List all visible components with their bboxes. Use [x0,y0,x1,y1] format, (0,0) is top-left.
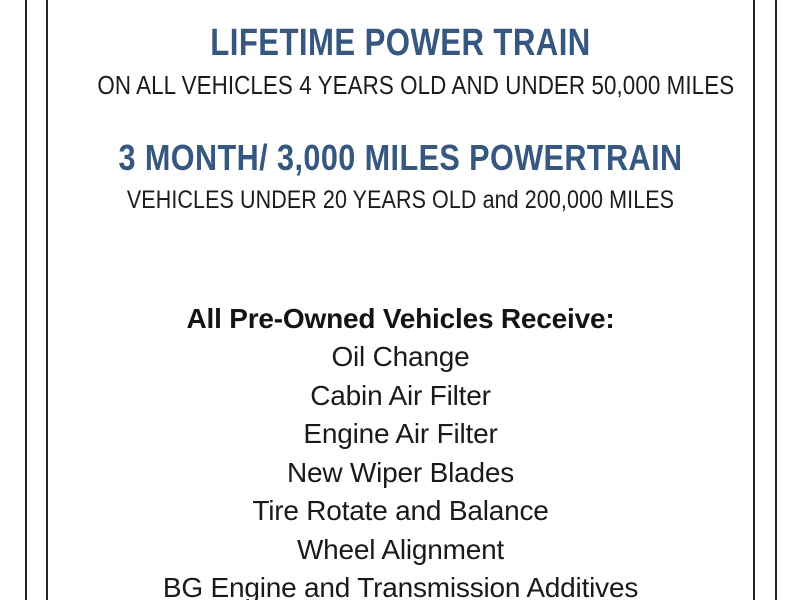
border-rule-right-outer [775,0,777,600]
warranty-title-three-month: 3 MONTH/ 3,000 MILES POWERTRAIN [101,137,700,179]
list-item: Wheel Alignment [48,531,753,570]
warranty-subtitle-three-month: VEHICLES UNDER 20 YEARS OLD and 200,000 … [97,185,703,215]
flyer-content: LIFETIME POWER TRAIN ON ALL VEHICLES 4 Y… [48,0,753,600]
list-item: BG Engine and Transmission Additives [48,569,753,600]
services-heading: All Pre-Owned Vehicles Receive: [48,300,753,338]
warranty-block-three-month: 3 MONTH/ 3,000 MILES POWERTRAIN VEHICLES… [48,137,753,215]
list-item: New Wiper Blades [48,454,753,493]
warranty-block-lifetime: LIFETIME POWER TRAIN ON ALL VEHICLES 4 Y… [48,22,753,100]
warranty-flyer: LIFETIME POWER TRAIN ON ALL VEHICLES 4 Y… [0,0,800,600]
list-item: Tire Rotate and Balance [48,492,753,531]
warranty-title-lifetime: LIFETIME POWER TRAIN [111,22,689,64]
border-rule-right-inner [753,0,755,600]
services-section: All Pre-Owned Vehicles Receive: Oil Chan… [48,300,753,600]
list-item: Cabin Air Filter [48,377,753,416]
border-rule-left-outer [25,0,27,600]
list-item: Engine Air Filter [48,415,753,454]
list-item: Oil Change [48,338,753,377]
services-list: Oil Change Cabin Air Filter Engine Air F… [48,338,753,600]
warranty-subtitle-lifetime: ON ALL VEHICLES 4 YEARS OLD AND UNDER 50… [97,70,703,100]
